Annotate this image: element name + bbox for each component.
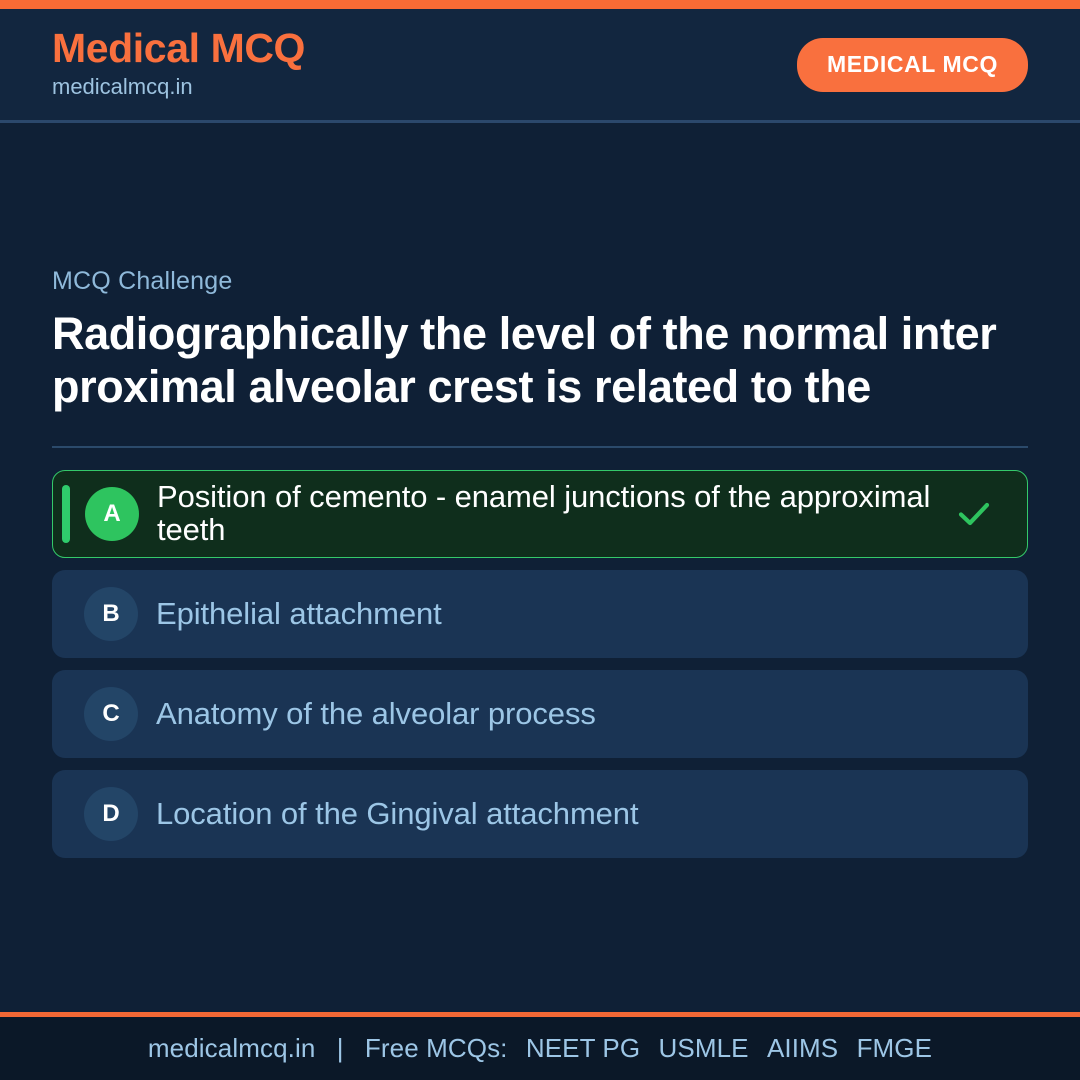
footer-exam-fmge: FMGE: [846, 1033, 933, 1063]
footer-exam-usmle: USMLE: [648, 1033, 749, 1063]
footer-text: medicalmcq.in | Free MCQs: NEET PG USMLE…: [148, 1033, 932, 1064]
footer-site: medicalmcq.in: [148, 1033, 315, 1063]
top-accent-rule: [0, 0, 1080, 9]
footer-exams-label: Free MCQs:: [365, 1033, 508, 1063]
brand-block: Medical MCQ medicalmcq.in: [52, 27, 305, 102]
brand-subtitle: medicalmcq.in: [52, 73, 305, 102]
check-icon: [953, 493, 995, 535]
option-d[interactable]: D Location of the Gingival attachment: [52, 770, 1028, 858]
page-header: Medical MCQ medicalmcq.in MEDICAL MCQ: [0, 9, 1080, 123]
question-text: Radiographically the level of the normal…: [52, 308, 1012, 413]
header-badge: MEDICAL MCQ: [797, 38, 1028, 92]
option-letter-badge: A: [85, 487, 139, 541]
option-text: Position of cemento - enamel junctions o…: [157, 481, 953, 547]
correct-accent-bar: [62, 485, 70, 543]
option-text: Epithelial attachment: [156, 598, 1006, 631]
option-text: Location of the Gingival attachment: [156, 798, 1006, 831]
option-b[interactable]: B Epithelial attachment: [52, 570, 1028, 658]
footer-separator: |: [323, 1033, 358, 1063]
option-text: Anatomy of the alveolar process: [156, 698, 1006, 731]
page-footer: medicalmcq.in | Free MCQs: NEET PG USMLE…: [0, 1012, 1080, 1080]
option-c[interactable]: C Anatomy of the alveolar process: [52, 670, 1028, 758]
main-content: MCQ Challenge Radiographically the level…: [0, 123, 1080, 1012]
kicker-label: MCQ Challenge: [52, 267, 1028, 296]
option-letter-badge: B: [84, 587, 138, 641]
section-divider: [52, 446, 1028, 448]
option-letter-badge: C: [84, 687, 138, 741]
option-a[interactable]: A Position of cemento - enamel junctions…: [52, 470, 1028, 558]
footer-exam-aiims: AIIMS: [756, 1033, 838, 1063]
brand-title: Medical MCQ: [52, 27, 305, 70]
option-letter-badge: D: [84, 787, 138, 841]
mcq-card: Medical MCQ medicalmcq.in MEDICAL MCQ MC…: [0, 0, 1080, 1080]
options-list: A Position of cemento - enamel junctions…: [52, 470, 1028, 858]
footer-exam-neetpg: NEET PG: [515, 1033, 640, 1063]
question-block: MCQ Challenge Radiographically the level…: [52, 267, 1028, 413]
